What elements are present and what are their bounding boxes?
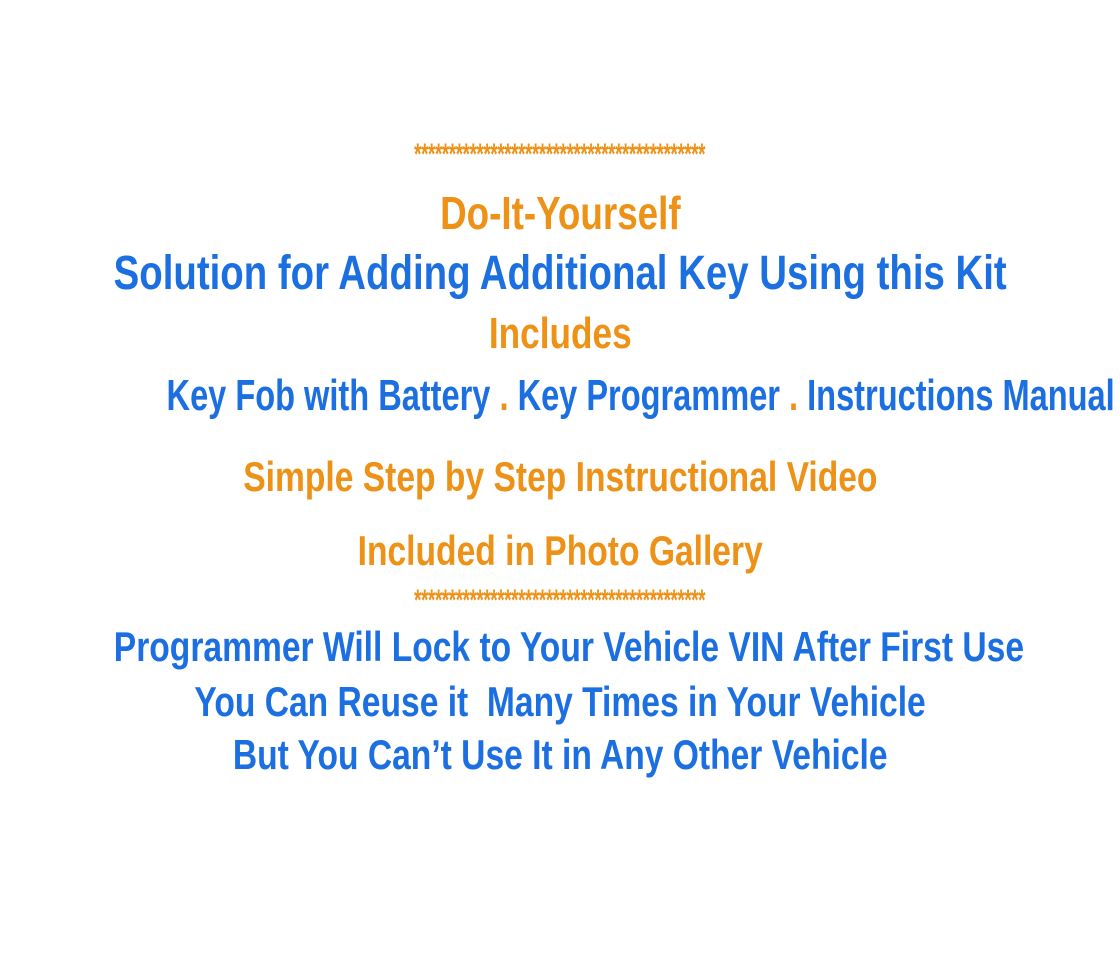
note-vin-lock-text: Programmer Will Lock to Your Vehicle VIN… — [114, 626, 1024, 668]
note-vehicle-restriction-text: But You Can’t Use It in Any Other Vehicl… — [233, 734, 888, 776]
kit-contents-inner: Key Fob with Battery . Key Programmer . … — [167, 374, 1115, 418]
kit-contents-list: Key Fob with Battery . Key Programmer . … — [0, 374, 1120, 418]
note-vin-lock: Programmer Will Lock to Your Vehicle VIN… — [0, 626, 1120, 668]
note-reuse: You Can Reuse it Many Times in Your Vehi… — [0, 681, 1120, 723]
includes-label-text: Includes — [489, 312, 632, 356]
subheadline-solution: Solution for Adding Additional Key Using… — [0, 250, 1120, 298]
kit-contents-separator-1: . — [499, 371, 508, 420]
divider-asterisks-top-text: ****************************************… — [415, 140, 706, 170]
headline-do-it-yourself: Do-It-Yourself — [0, 190, 1120, 236]
instructional-video-line: Simple Step by Step Instructional Video — [0, 456, 1120, 498]
includes-label: Includes — [0, 312, 1120, 356]
kit-contents-item-2: Key Programmer — [518, 371, 780, 420]
kit-contents-item-3: Instructions Manual — [807, 371, 1115, 420]
subheadline-solution-text: Solution for Adding Additional Key Using… — [113, 250, 1006, 298]
photo-gallery-text: Included in Photo Gallery — [357, 530, 762, 572]
divider-asterisks-top: ****************************************… — [0, 140, 1120, 170]
promo-graphic-canvas: ****************************************… — [0, 0, 1120, 956]
divider-asterisks-bottom: ****************************************… — [0, 586, 1120, 616]
kit-contents-separator-2: . — [789, 371, 798, 420]
note-reuse-text: You Can Reuse it Many Times in Your Vehi… — [194, 681, 925, 723]
kit-contents-item-1: Key Fob with Battery — [167, 371, 491, 420]
divider-asterisks-bottom-text: ****************************************… — [415, 586, 706, 616]
note-vehicle-restriction: But You Can’t Use It in Any Other Vehicl… — [0, 734, 1120, 776]
headline-do-it-yourself-text: Do-It-Yourself — [440, 190, 681, 236]
instructional-video-text: Simple Step by Step Instructional Video — [243, 456, 877, 498]
photo-gallery-line: Included in Photo Gallery — [0, 530, 1120, 572]
